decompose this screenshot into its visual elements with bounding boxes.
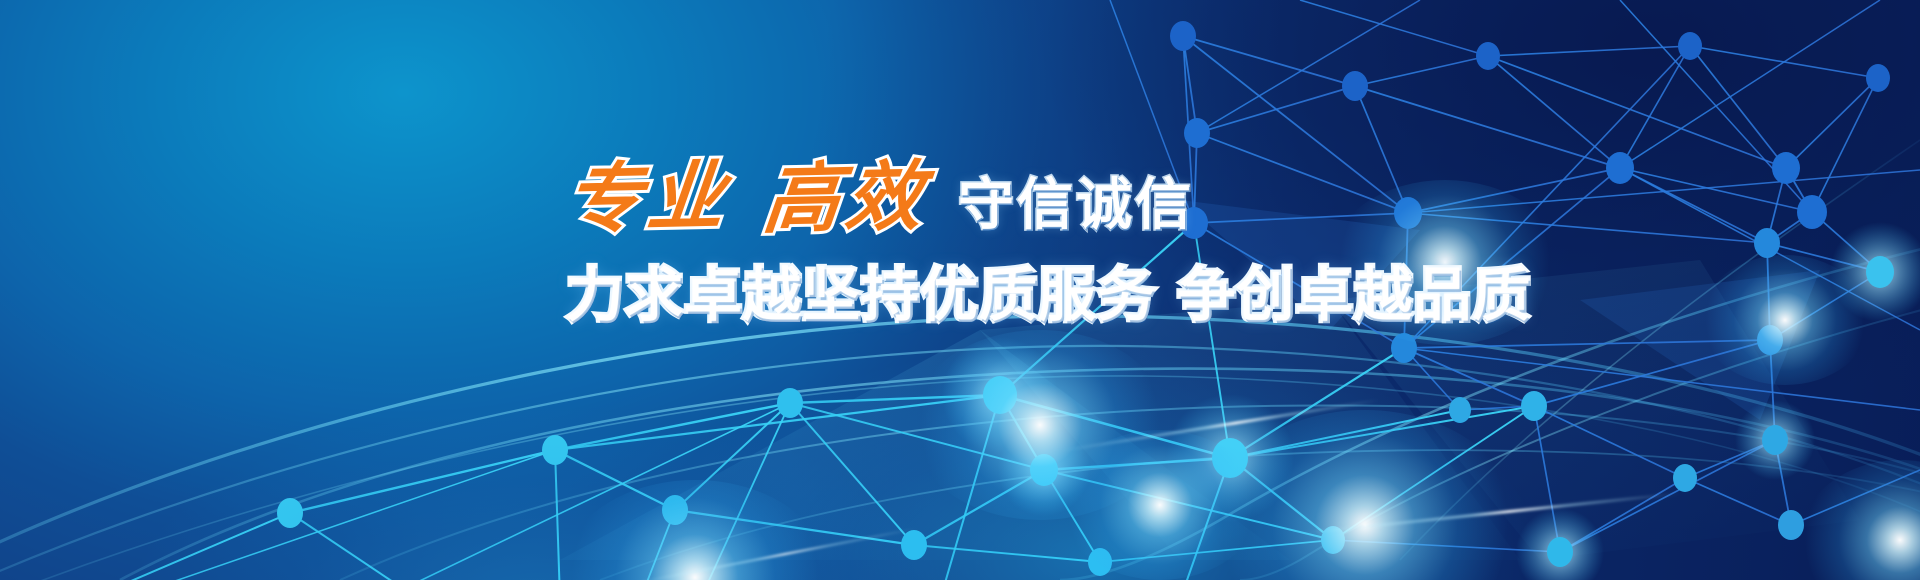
- promo-banner: 专业 高效 守信诚信 力求卓越坚持优质服务 争创卓越品质: [0, 0, 1920, 580]
- headline-brush-text-2: 高效: [760, 158, 932, 237]
- headline-row: 专业 高效 守信诚信: [566, 160, 1194, 236]
- banner-subline: 力求卓越坚持优质服务 争创卓越品质: [566, 266, 1531, 324]
- headline-white-text: 守信诚信: [958, 178, 1194, 234]
- headline-brush-text-1: 专业: [562, 158, 734, 237]
